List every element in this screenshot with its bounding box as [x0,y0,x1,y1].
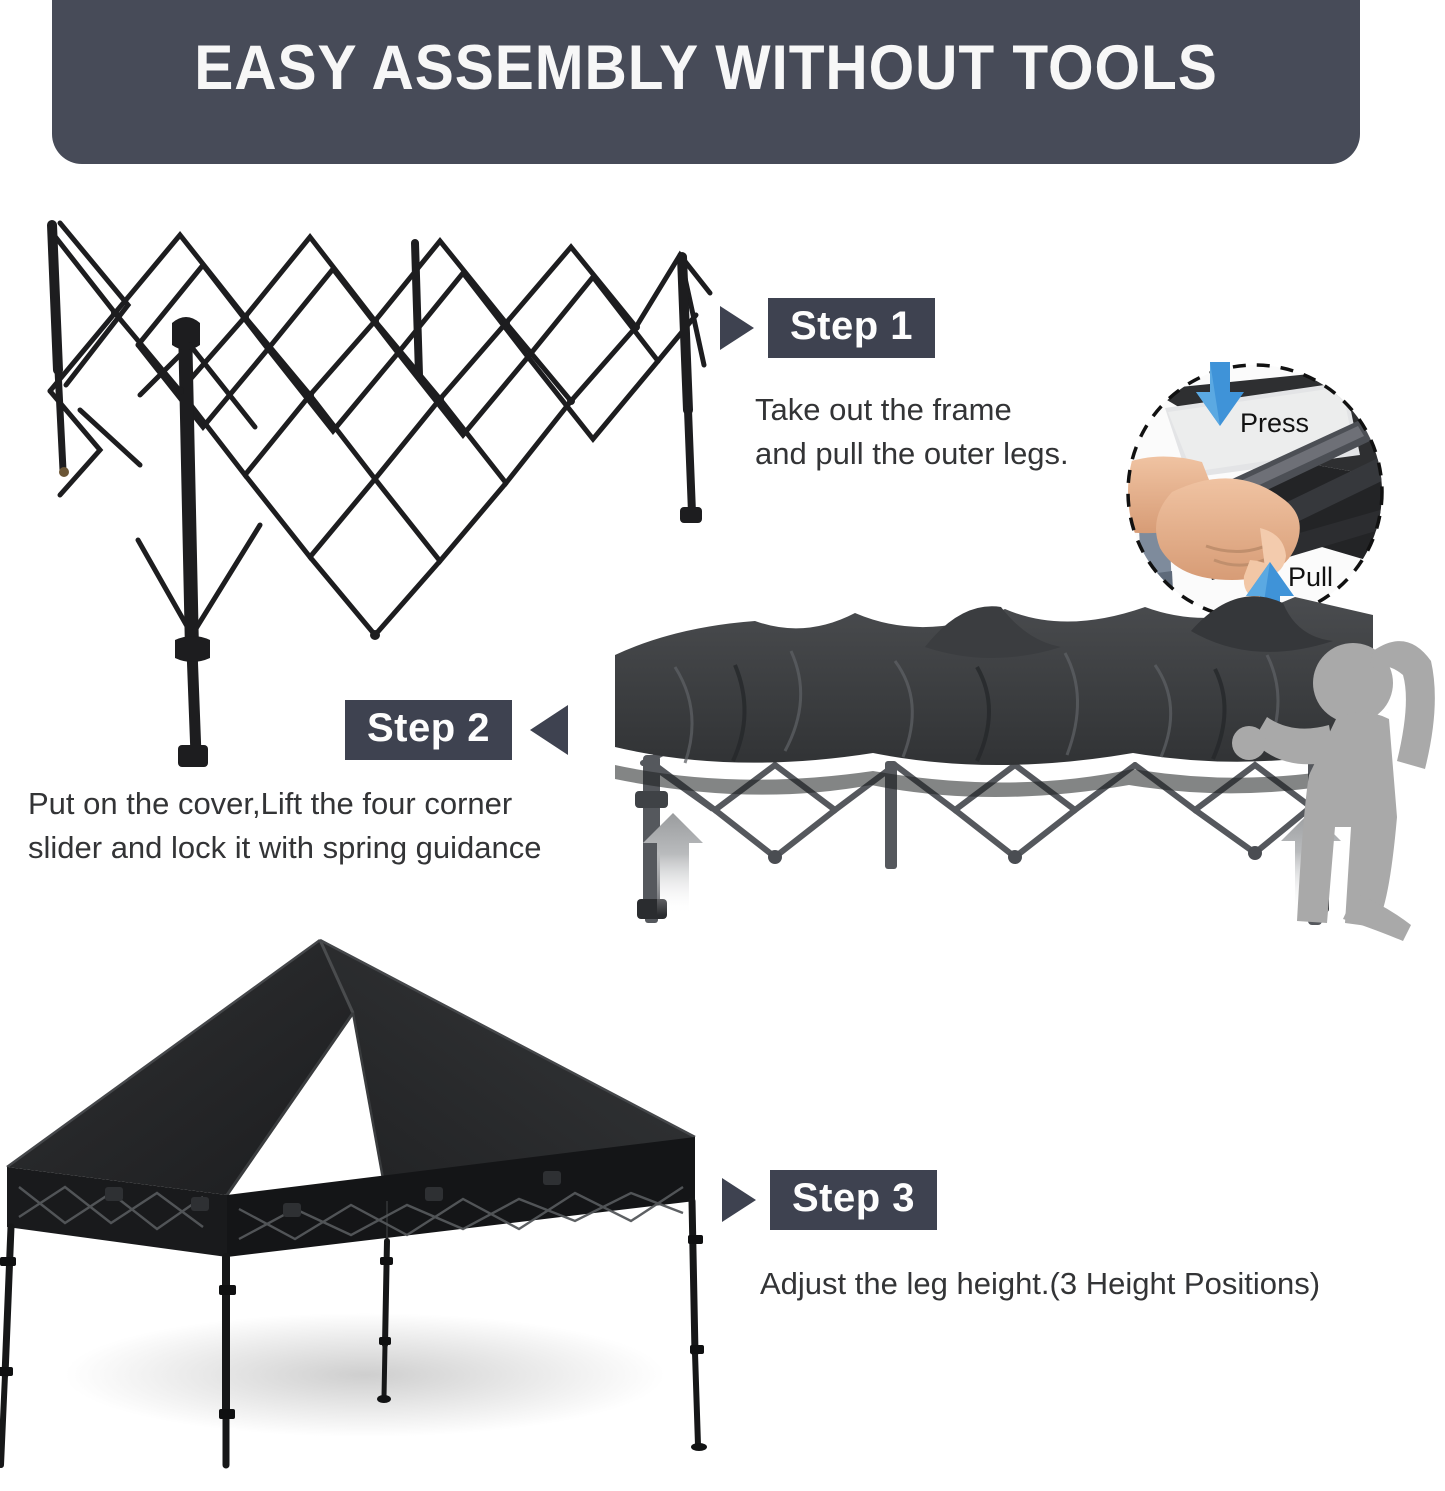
step-2-description: Put on the cover,Lift the four corner sl… [28,782,628,870]
step-2-badge: Step 2 [345,700,512,760]
infographic-page: EASY ASSEMBLY WITHOUT TOOLS [0,0,1445,1491]
press-label: Press [1240,408,1309,439]
hand-detail-drawing [1110,360,1400,630]
triangle-right-icon [720,306,754,350]
page-title: EASY ASSEMBLY WITHOUT TOOLS [98,0,1314,164]
figure-hand-detail [1110,360,1400,630]
figure-assembled-canopy [0,905,755,1465]
step-2-badge-row: Step 2 [345,700,568,760]
triangle-left-icon [530,705,568,755]
step-3-badge: Step 3 [770,1170,937,1230]
pull-label: Pull [1288,562,1333,593]
header-banner: EASY ASSEMBLY WITHOUT TOOLS [52,0,1360,164]
folded-frame-drawing [20,195,720,645]
step-1-badge: Step 1 [768,298,935,358]
triangle-right-icon [722,1178,756,1222]
step-3-description: Adjust the leg height.(3 Height Position… [760,1262,1420,1306]
figure-covered-frame [595,595,1395,925]
step-1-badge-row: Step 1 [720,298,935,358]
assembled-canopy-drawing [0,905,755,1465]
figure-folded-frame [20,195,720,645]
covered-frame-drawing [595,595,1395,925]
step-3-badge-row: Step 3 [722,1170,937,1230]
